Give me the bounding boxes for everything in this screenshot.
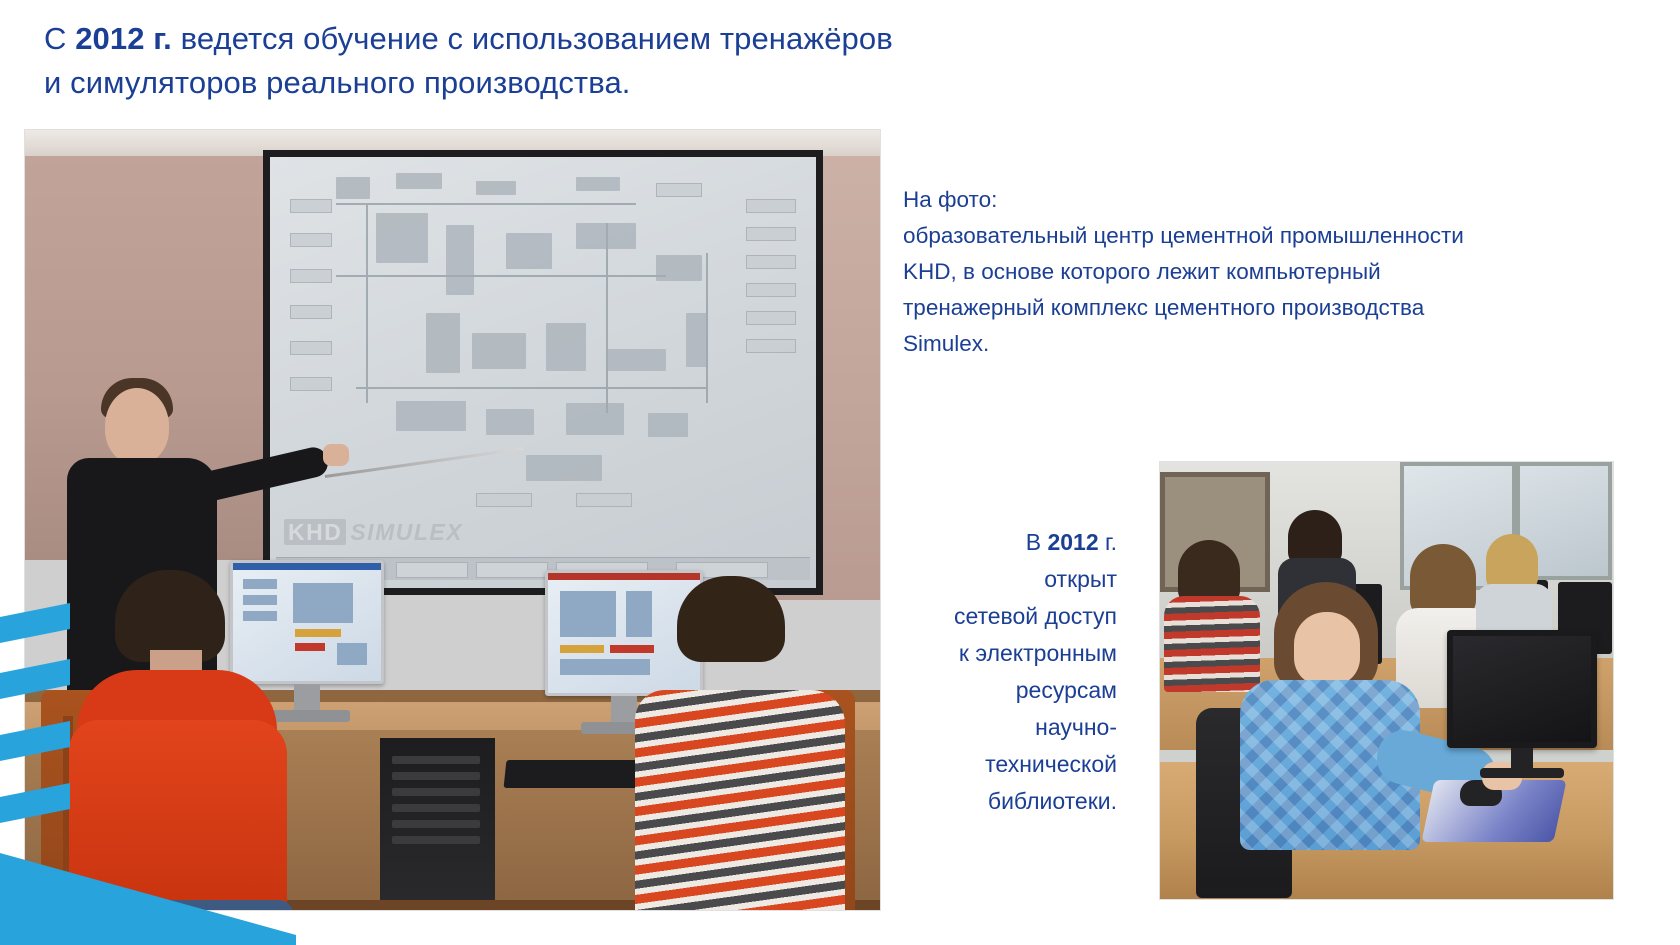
title-year: 2012 г. — [75, 21, 172, 56]
title-rest: ведется обучение с использованием тренаж… — [44, 21, 893, 100]
projection-screen: KHDSIMULEX — [263, 150, 823, 595]
background-person-3 — [1410, 544, 1476, 618]
library-access-note: В 2012 г. открыт сетевой доступ к электр… — [820, 524, 1117, 820]
library-note-rest: г. открыт сетевой доступ к электронным р… — [954, 529, 1117, 814]
computer-lab-library-access-photo — [1160, 462, 1613, 899]
background-person-1-body — [1164, 596, 1260, 692]
library-note-year: 2012 — [1047, 529, 1098, 555]
library-note-prefix: В — [1026, 529, 1048, 555]
pc-tower — [380, 738, 495, 906]
photo-caption: На фото: образовательный центр цементной… — [903, 182, 1603, 362]
slide-canvas: С 2012 г. ведется обучение с использован… — [0, 0, 1680, 945]
photo-right-scene — [1160, 462, 1613, 899]
title-prefix: С — [44, 21, 75, 56]
photo-left-scene: KHDSIMULEX — [25, 130, 880, 910]
foreground-woman-face — [1294, 612, 1360, 686]
simulex-wordmark: SIMULEX — [350, 519, 463, 545]
classroom-simulator-training-photo: KHDSIMULEX — [25, 130, 880, 910]
simulex-logo: KHDSIMULEX — [284, 519, 463, 546]
student-left-figure — [55, 570, 295, 910]
page-title: С 2012 г. ведется обучение с использован… — [44, 17, 1044, 105]
foreground-monitor — [1447, 630, 1597, 780]
khd-logo-mark: KHD — [284, 519, 346, 545]
